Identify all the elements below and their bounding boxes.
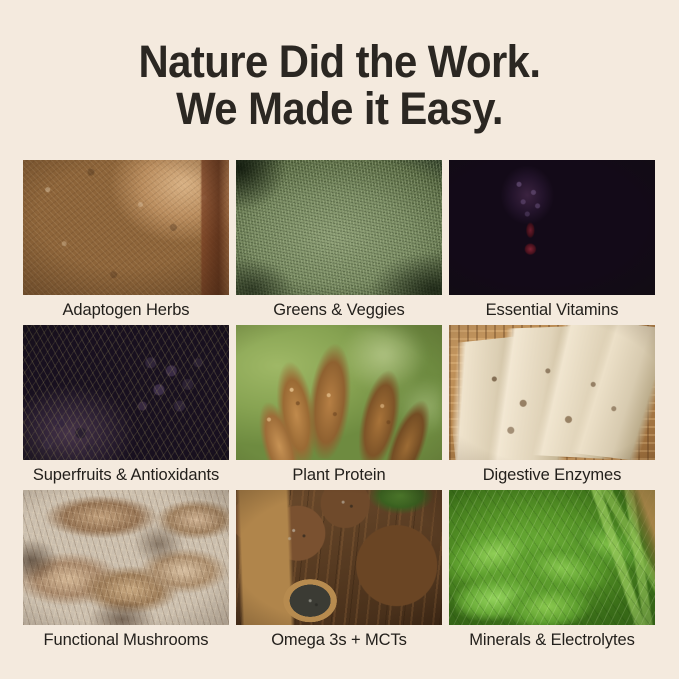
maca-roots-photo xyxy=(23,160,229,295)
ingredient-cell-superfruits-antioxidants: Superfruits & Antioxidants xyxy=(23,325,229,490)
ingredient-label: Superfruits & Antioxidants xyxy=(9,461,243,490)
ingredient-cell-essential-vitamins: Essential Vitamins xyxy=(449,160,655,325)
ingredient-label: Greens & Veggies xyxy=(222,296,456,325)
ingredient-label: Functional Mushrooms xyxy=(9,626,243,655)
ingredient-label: Omega 3s + MCTs xyxy=(222,626,456,655)
product-ingredients-poster: Nature Did the Work. We Made it Easy. Ad… xyxy=(0,0,679,679)
chia-seeds-coconut-photo xyxy=(236,490,442,625)
ingredient-cell-digestive-enzymes: Digestive Enzymes xyxy=(449,325,655,490)
ingredient-label: Essential Vitamins xyxy=(435,296,669,325)
page-title: Nature Did the Work. We Made it Easy. xyxy=(24,38,655,132)
ingredient-grid: Adaptogen Herbs Greens & Veggies xyxy=(23,160,656,655)
ingredient-label: Adaptogen Herbs xyxy=(9,296,243,325)
spinach-leaves-photo xyxy=(449,490,655,625)
amaranth-seedheads-photo xyxy=(236,325,442,460)
ingredient-cell-functional-mushrooms: Functional Mushrooms xyxy=(23,490,229,655)
daikon-radish-basket-photo xyxy=(449,325,655,460)
ingredient-cell-omega-3s-mcts: Omega 3s + MCTs xyxy=(236,490,442,655)
blackberry-juice-photo xyxy=(449,160,655,295)
maitake-mushrooms-photo xyxy=(23,490,229,625)
headline-line-1: Nature Did the Work. xyxy=(24,38,655,85)
headline-line-2: We Made it Easy. xyxy=(24,85,655,132)
ingredient-label: Digestive Enzymes xyxy=(435,461,669,490)
ingredient-label: Plant Protein xyxy=(222,461,456,490)
green-powder-photo xyxy=(236,160,442,295)
ingredient-cell-greens-veggies: Greens & Veggies xyxy=(236,160,442,325)
ingredient-cell-adaptogen-herbs: Adaptogen Herbs xyxy=(23,160,229,325)
ingredient-cell-plant-protein: Plant Protein xyxy=(236,325,442,490)
ingredient-cell-minerals-electrolytes: Minerals & Electrolytes xyxy=(449,490,655,655)
acai-berries-photo xyxy=(23,325,229,460)
ingredient-label: Minerals & Electrolytes xyxy=(435,626,669,655)
